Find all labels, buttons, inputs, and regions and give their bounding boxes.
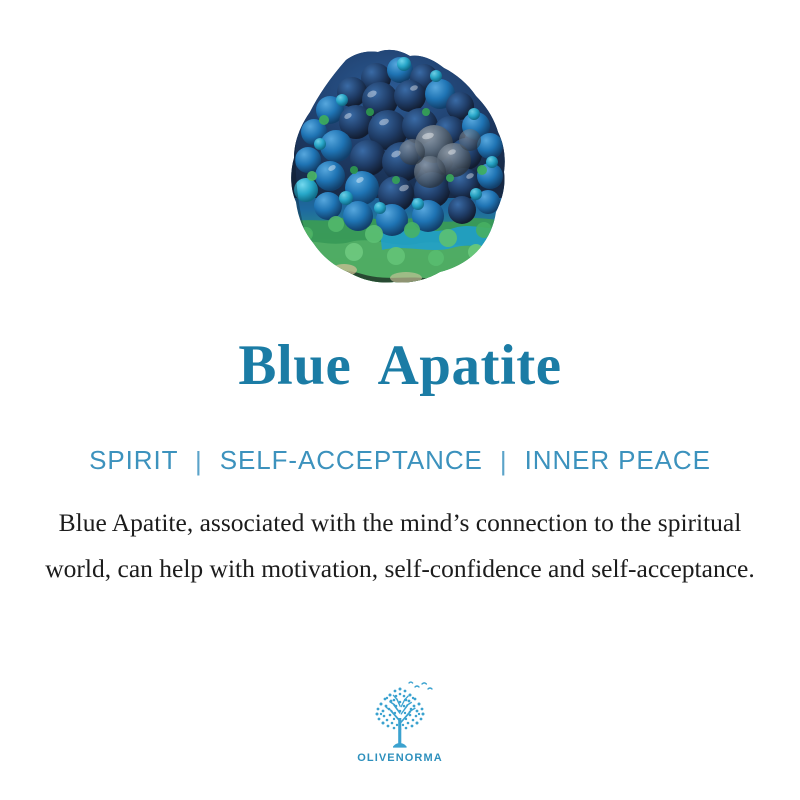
product-info-card: Blue Apatite SPIRIT | SELF-ACCEPTANCE | … bbox=[0, 0, 800, 800]
keyword-list: SPIRIT | SELF-ACCEPTANCE | INNER PEACE bbox=[0, 445, 800, 475]
keyword-inner-peace: INNER PEACE bbox=[525, 445, 711, 475]
brand-wordmark: OLIVENORMA bbox=[357, 752, 443, 764]
brand-logo: OLIVENORMA bbox=[0, 678, 800, 764]
tree-of-life-icon bbox=[360, 678, 440, 750]
keyword-separator: | bbox=[491, 446, 517, 476]
keyword-separator: | bbox=[186, 446, 212, 476]
product-image bbox=[0, 48, 800, 293]
product-description: Blue Apatite, associated with the mind’s… bbox=[30, 500, 770, 592]
keyword-spirit: SPIRIT bbox=[89, 445, 178, 475]
keyword-self-acceptance: SELF-ACCEPTANCE bbox=[220, 445, 483, 475]
mineral-specimen-icon bbox=[284, 48, 516, 286]
page-title: Blue Apatite bbox=[0, 333, 800, 399]
